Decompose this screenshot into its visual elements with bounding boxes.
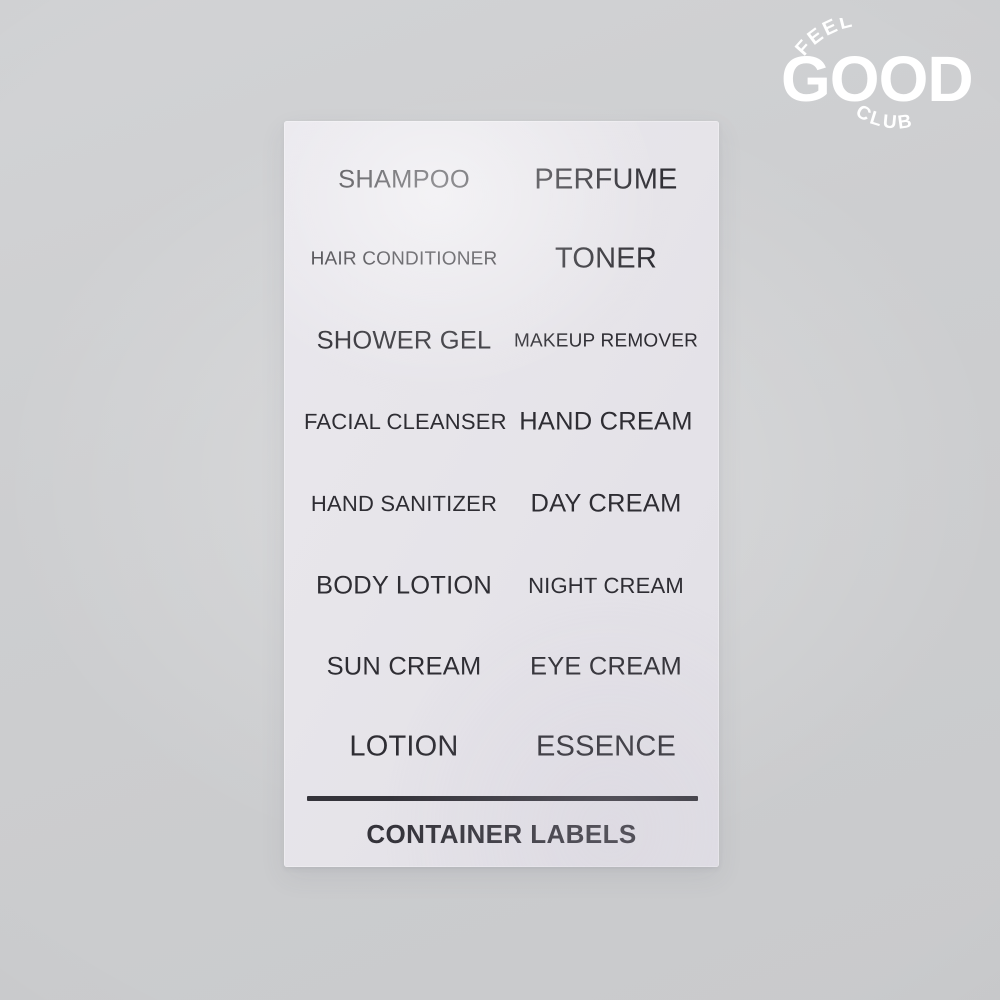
label-day-cream[interactable]: DAY CREAM: [506, 491, 706, 517]
label-toner[interactable]: TONER: [506, 245, 706, 274]
label-makeup-remover[interactable]: MAKEUP REMOVER: [506, 332, 706, 351]
label-shower-gel[interactable]: SHOWER GEL: [304, 328, 504, 354]
label-essence[interactable]: ESSENCE: [506, 733, 706, 762]
sheet-footer-title: CONTAINER LABELS: [284, 821, 719, 847]
label-sun-cream[interactable]: SUN CREAM: [304, 654, 504, 680]
label-body-lotion[interactable]: BODY LOTION: [304, 573, 504, 599]
label-sheet: SHAMPOO PERFUME HAIR CONDITIONER TONER S…: [284, 121, 719, 867]
label-perfume[interactable]: PERFUME: [506, 166, 706, 195]
label-hand-cream[interactable]: HAND CREAM: [506, 409, 706, 435]
label-night-cream[interactable]: NIGHT CREAM: [506, 575, 706, 597]
label-facial-cleanser[interactable]: FACIAL CLEANSER: [304, 411, 504, 433]
label-lotion[interactable]: LOTION: [304, 733, 504, 762]
label-hand-sanitizer[interactable]: HAND SANITIZER: [304, 493, 504, 515]
footer-divider-rule: [307, 796, 698, 801]
label-shampoo[interactable]: SHAMPOO: [304, 167, 504, 193]
label-grid: SHAMPOO PERFUME HAIR CONDITIONER TONER S…: [284, 121, 719, 867]
label-eye-cream[interactable]: EYE CREAM: [506, 654, 706, 680]
label-hair-conditioner[interactable]: HAIR CONDITIONER: [304, 250, 504, 269]
